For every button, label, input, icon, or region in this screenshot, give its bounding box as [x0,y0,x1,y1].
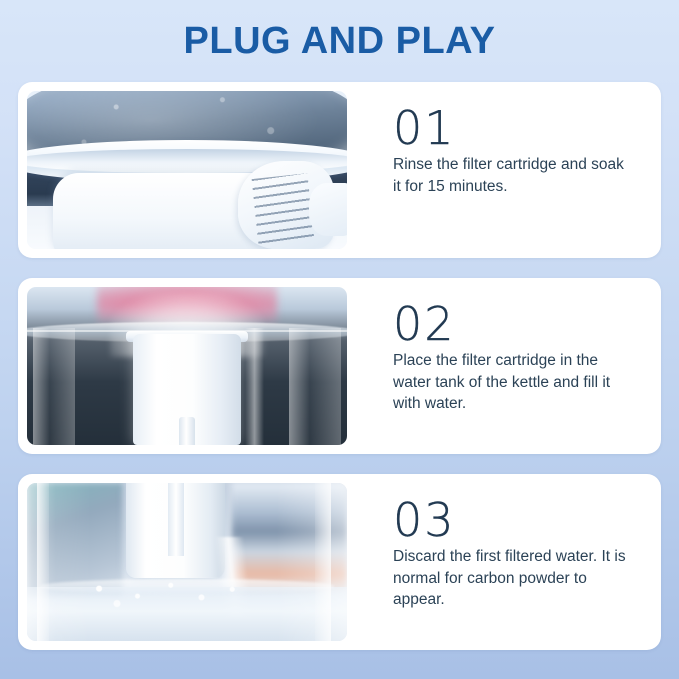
pitcher-glass-overlay [27,483,347,641]
pitcher-left-wall-highlight [37,483,50,641]
page-header: PLUG AND PLAY [0,0,679,82]
step-description-03: Discard the first filtered water. It is … [393,546,635,610]
step-card-03: 03 Discard the first filtered water. It … [18,474,661,650]
step-card-01: 01 Rinse the filter cartridge and soak i… [18,82,661,258]
step-content-01: 01 Rinse the filter cartridge and soak i… [347,82,661,258]
tank-glass-left-highlight [33,328,75,445]
step-number-02: 02 [393,300,635,348]
step-content-03: 03 Discard the first filtered water. It … [347,474,661,650]
step-content-02: 02 Place the filter cartridge in the wat… [347,278,661,454]
step-number-01: 01 [393,104,635,152]
tank-glass-sheen [245,328,264,445]
step-photo-01 [27,91,347,249]
step-photo-02 [27,287,347,445]
tank-glass-right-highlight [289,328,340,445]
page-title: PLUG AND PLAY [184,22,496,60]
step-description-01: Rinse the filter cartridge and soak it f… [393,154,635,197]
step-number-03: 03 [393,496,635,544]
cartridge-outlet-stem-shape [179,417,195,445]
step-photo-03 [27,483,347,641]
steps-list: 01 Rinse the filter cartridge and soak i… [0,82,679,650]
cartridge-side-tab-shape [309,183,347,237]
step-card-02: 02 Place the filter cartridge in the wat… [18,278,661,454]
cartridge-vent-slots-shape [252,174,314,247]
step-description-02: Place the filter cartridge in the water … [393,350,635,414]
pitcher-right-wall-highlight [315,483,331,641]
